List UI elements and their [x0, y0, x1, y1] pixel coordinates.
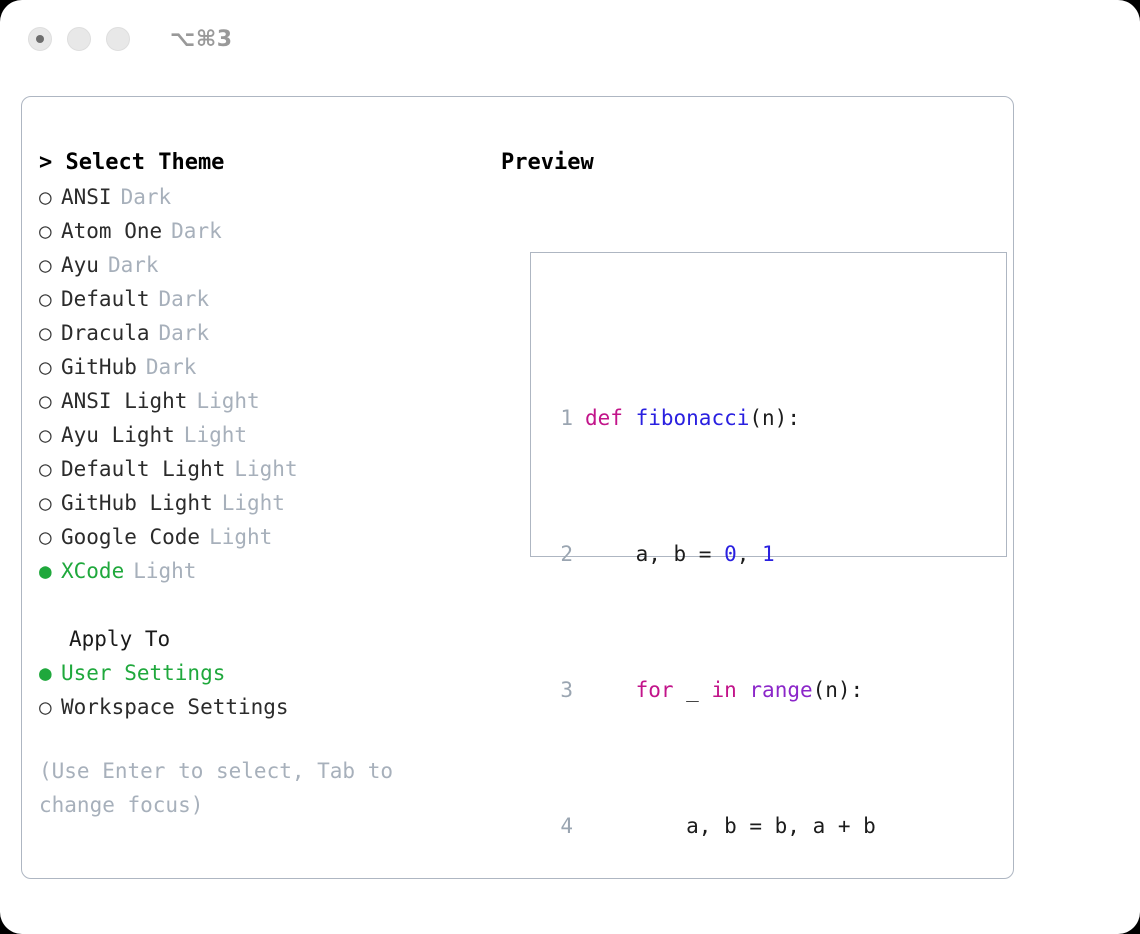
radio-icon-selected: ●	[39, 554, 61, 588]
radio-icon: ○	[39, 520, 61, 554]
code-token: a, b =	[585, 537, 724, 571]
theme-list-item[interactable]: ○ Ayu Light Light	[39, 418, 499, 452]
theme-name: ANSI	[61, 180, 112, 214]
radio-icon: ○	[39, 316, 61, 350]
code-line: 1 def fibonacci (n):	[547, 401, 901, 435]
theme-kind: Light	[196, 384, 259, 418]
code-token	[737, 673, 750, 707]
radio-icon: ○	[39, 248, 61, 282]
theme-kind: Dark	[171, 214, 222, 248]
code-token: 0	[724, 537, 737, 571]
code-token: 1	[762, 537, 775, 571]
line-number: 2	[547, 537, 573, 571]
theme-kind: Light	[222, 486, 285, 520]
preview-box: 1 def fibonacci (n): 2 a, b = 0 , 1	[530, 252, 1007, 557]
radio-icon: ○	[39, 418, 61, 452]
apply-option-workspace-settings[interactable]: ○ Workspace Settings	[39, 690, 499, 724]
theme-kind: Dark	[159, 316, 210, 350]
apply-option-label: User Settings	[61, 656, 225, 690]
code-line: 3 for _ in range (n):	[547, 673, 901, 707]
theme-name: GitHub	[61, 350, 137, 384]
theme-name: GitHub Light	[61, 486, 213, 520]
theme-list-item[interactable]: ○ ANSI Dark	[39, 180, 499, 214]
radio-icon: ○	[39, 214, 61, 248]
theme-list-item[interactable]: ○ Dracula Dark	[39, 316, 499, 350]
theme-list-item[interactable]: ○ Default Light Light	[39, 452, 499, 486]
code-line: 4 a, b = b, a + b	[547, 809, 901, 843]
window-control-close[interactable]	[28, 27, 52, 51]
theme-name: Ayu Light	[61, 418, 175, 452]
theme-name: Ayu	[61, 248, 99, 282]
apply-to-heading: Apply To	[39, 622, 499, 656]
code-token: _	[674, 673, 712, 707]
select-theme-heading: > Select Theme	[39, 146, 499, 180]
code-token	[585, 673, 636, 707]
panel-columns: > Select Theme ○ ANSI Dark ○ Atom One Da…	[22, 97, 1013, 878]
radio-icon-selected: ●	[39, 656, 61, 690]
code-token: ,	[737, 537, 762, 571]
theme-kind: Dark	[159, 282, 210, 316]
main-panel: > Select Theme ○ ANSI Dark ○ Atom One Da…	[21, 96, 1014, 879]
theme-name: Default	[61, 282, 150, 316]
theme-kind: Light	[133, 554, 196, 588]
code-token	[623, 401, 636, 435]
code-token: (n):	[813, 673, 864, 707]
keyboard-hint-text: (Use Enter to select, Tab to change focu…	[39, 754, 459, 822]
section-spacer	[39, 588, 499, 622]
preview-column: Preview 1 def fibonacci (n): 2 a,	[501, 146, 1001, 180]
theme-list-item[interactable]: ○ GitHub Light Light	[39, 486, 499, 520]
title-bar: ⌥⌘3	[0, 0, 1140, 78]
theme-name: Default Light	[61, 452, 225, 486]
radio-icon: ○	[39, 350, 61, 384]
code-token: (n):	[749, 401, 800, 435]
theme-name: Dracula	[61, 316, 150, 350]
radio-icon: ○	[39, 384, 61, 418]
window-controls	[28, 27, 130, 51]
code-token: range	[749, 673, 812, 707]
theme-kind: Light	[234, 452, 297, 486]
line-number: 3	[547, 673, 573, 707]
code-sample: 1 def fibonacci (n): 2 a, b = 0 , 1	[547, 299, 901, 934]
apply-to-options: ● User Settings ○ Workspace Settings	[39, 656, 499, 724]
code-line: 2 a, b = 0 , 1	[547, 537, 901, 571]
code-token: fibonacci	[636, 401, 750, 435]
radio-icon: ○	[39, 180, 61, 214]
radio-icon: ○	[39, 486, 61, 520]
code-token: for	[636, 673, 674, 707]
window-control-minimize[interactable]	[67, 27, 91, 51]
theme-list: ○ ANSI Dark ○ Atom One Dark ○ Ayu Dark	[39, 180, 499, 588]
theme-list-item[interactable]: ○ Default Dark	[39, 282, 499, 316]
theme-list-item[interactable]: ○ GitHub Dark	[39, 350, 499, 384]
apply-option-label: Workspace Settings	[61, 690, 289, 724]
radio-icon: ○	[39, 452, 61, 486]
theme-name: XCode	[61, 554, 124, 588]
theme-name: Google Code	[61, 520, 200, 554]
theme-list-item[interactable]: ○ ANSI Light Light	[39, 384, 499, 418]
preview-heading: Preview	[501, 146, 1001, 180]
theme-kind: Light	[209, 520, 272, 554]
theme-list-item[interactable]: ○ Ayu Dark	[39, 248, 499, 282]
theme-kind: Dark	[108, 248, 159, 282]
code-token: a, b = b, a + b	[585, 809, 876, 843]
window-control-maximize[interactable]	[106, 27, 130, 51]
theme-list-item[interactable]: ○ Google Code Light	[39, 520, 499, 554]
radio-icon: ○	[39, 690, 61, 724]
theme-kind: Dark	[121, 180, 172, 214]
radio-icon: ○	[39, 282, 61, 316]
code-token: def	[585, 401, 623, 435]
theme-name: Atom One	[61, 214, 162, 248]
code-token: in	[711, 673, 736, 707]
theme-list-item-selected[interactable]: ● XCode Light	[39, 554, 499, 588]
theme-list-item[interactable]: ○ Atom One Dark	[39, 214, 499, 248]
line-number: 1	[547, 401, 573, 435]
apply-option-user-settings[interactable]: ● User Settings	[39, 656, 499, 690]
active-indicator-dot	[36, 35, 44, 43]
app-window: ⌥⌘3 > Select Theme ○ ANSI Dark ○ Atom On…	[0, 0, 1140, 934]
theme-name: ANSI Light	[61, 384, 187, 418]
theme-kind: Dark	[146, 350, 197, 384]
theme-kind: Light	[184, 418, 247, 452]
theme-picker-column: > Select Theme ○ ANSI Dark ○ Atom One Da…	[39, 146, 499, 822]
line-number: 4	[547, 809, 573, 843]
keyboard-shortcut-label: ⌥⌘3	[170, 27, 233, 52]
